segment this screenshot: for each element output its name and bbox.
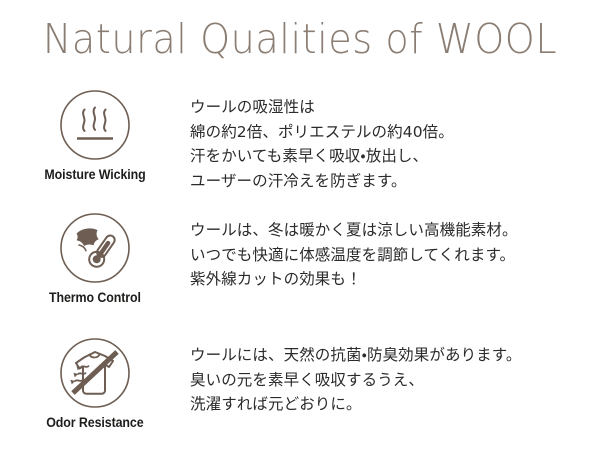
feature-line: ウールの吸湿性は (190, 95, 588, 120)
feature-line: 綿の約2倍、ポリエステルの約40倍。 (190, 120, 588, 145)
feature-text-moisture-wicking: ウールの吸湿性は 綿の約2倍、ポリエステルの約40倍。 汗をかいても素早く吸収・… (190, 85, 600, 193)
feature-line: ユーザーの汗冷えを防ぎます。 (190, 169, 588, 194)
feature-list: Moisture Wicking ウールの吸湿性は 綿の約2倍、ポリエステルの約… (0, 85, 600, 460)
feature-line: いつでも快適に体感温度を調節してくれます。 (190, 243, 588, 268)
feature-row-thermo-control: Thermo Control ウールは、冬は暖かく夏は涼しい高機能素材。 いつで… (0, 210, 600, 335)
feature-line: 汗をかいても素早く吸収・放出し、 (190, 144, 588, 169)
icon-column-odor-resistance: Odor Resistance (0, 335, 190, 430)
icon-column-thermo-control: Thermo Control (0, 210, 190, 305)
feature-label-moisture-wicking: Moisture Wicking (44, 167, 145, 182)
feature-row-odor-resistance: Odor Resistance ウールには、天然の抗菌・防臭効果があります。 臭… (0, 335, 600, 460)
thermometer-sun-icon (59, 212, 131, 284)
feature-label-thermo-control: Thermo Control (49, 290, 141, 305)
feature-row-moisture-wicking: Moisture Wicking ウールの吸湿性は 綿の約2倍、ポリエステルの約… (0, 85, 600, 210)
no-odor-shirt-icon (59, 337, 131, 409)
feature-line: 洗濯すれば元どおりに。 (190, 392, 588, 417)
feature-line: ウールは、冬は暖かく夏は涼しい高機能素材。 (190, 218, 588, 243)
feature-text-thermo-control: ウールは、冬は暖かく夏は涼しい高機能素材。 いつでも快適に体感温度を調節してくれ… (190, 210, 600, 292)
feature-label-odor-resistance: Odor Resistance (46, 415, 143, 430)
feature-line: 紫外線カットの効果も！ (190, 267, 588, 292)
page-title: Natural Qualities of WOOL (21, 14, 579, 64)
feature-text-odor-resistance: ウールには、天然の抗菌・防臭効果があります。 臭いの元を素早く吸収するうえ、 洗… (190, 335, 600, 417)
steam-rising-icon (59, 89, 131, 161)
feature-line: 臭いの元を素早く吸収するうえ、 (190, 368, 588, 393)
icon-column-moisture-wicking: Moisture Wicking (0, 85, 190, 182)
feature-line: ウールには、天然の抗菌・防臭効果があります。 (190, 343, 588, 368)
wool-qualities-infographic: Natural Qualities of WOOL Moisture Wicki… (0, 0, 600, 450)
